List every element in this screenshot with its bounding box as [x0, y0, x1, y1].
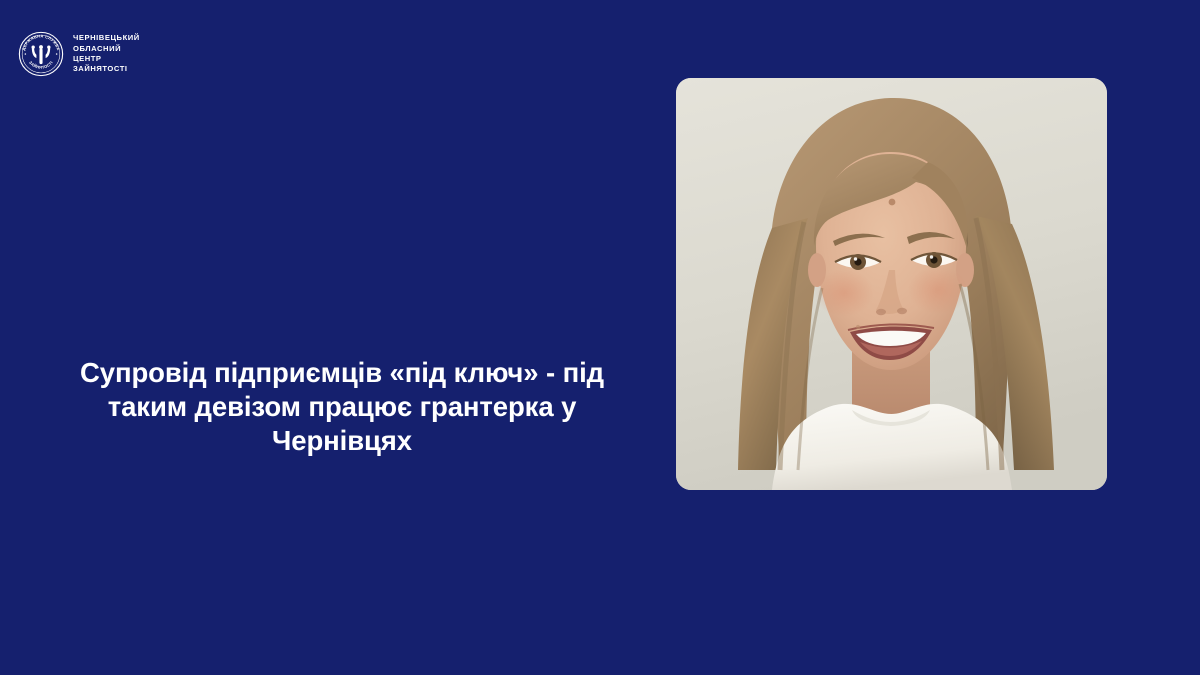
brand-name-line-3: ЦЕНТР	[73, 54, 140, 64]
brand-name-line-1: ЧЕРНІВЕЦЬКИЙ	[73, 33, 140, 43]
brand-lockup: ДЕРЖАВНА СЛУЖБА ЗАЙНЯТОСТІ	[18, 31, 140, 77]
brand-name-line-2: ОБЛАСНИЙ	[73, 44, 140, 54]
brand-name-line-4: ЗАЙНЯТОСТІ	[73, 64, 140, 74]
slide-root: ДЕРЖАВНА СЛУЖБА ЗАЙНЯТОСТІ	[0, 0, 1200, 675]
portrait-photo	[676, 78, 1107, 490]
brand-name: ЧЕРНІВЕЦЬКИЙ ОБЛАСНИЙ ЦЕНТР ЗАЙНЯТОСТІ	[73, 33, 140, 75]
headline-text: Супровід підприємців «під ключ» - під та…	[42, 356, 642, 458]
employment-service-emblem-icon: ДЕРЖАВНА СЛУЖБА ЗАЙНЯТОСТІ	[18, 31, 64, 77]
